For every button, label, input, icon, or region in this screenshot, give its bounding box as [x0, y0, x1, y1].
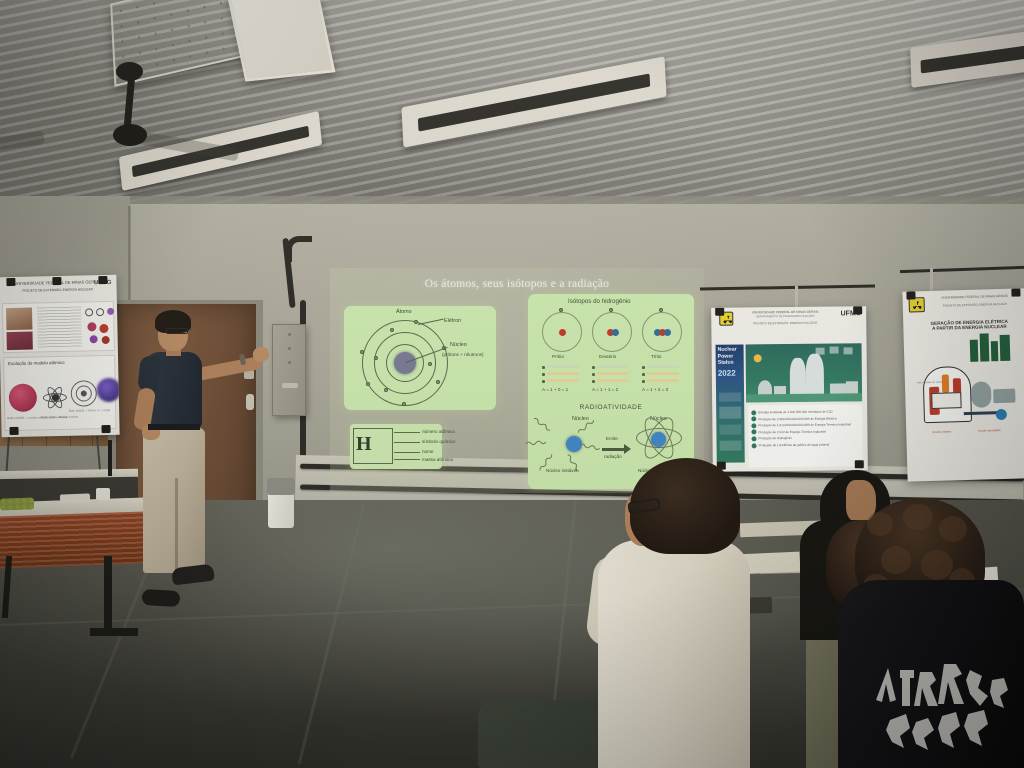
poster-institution: UNIVERSIDADE FEDERAL DE MINAS GERAIS	[929, 293, 1021, 300]
isotope-sum: A = 1 + 2 = 3	[642, 387, 668, 392]
label-radiation: radiação	[604, 454, 622, 459]
diagram-label: circuito primário	[932, 430, 951, 434]
band-tshirt-graphic	[870, 650, 1020, 760]
poster-subtitle: PROJETO DE EXTENSÃO: ENERGIA NUCLEAR	[929, 301, 1021, 308]
label-electron: Elétron	[444, 318, 461, 324]
power-plant-illustration	[746, 343, 863, 402]
table-object-plants[interactable]	[0, 497, 34, 510]
presenter-shoe	[142, 589, 181, 607]
table-leg	[104, 556, 112, 634]
label-nucleus-detail: (prótons + nêutrons)	[442, 352, 484, 357]
presenter-glasses-icon	[166, 328, 188, 334]
label-nucleus: Núcleo	[450, 342, 467, 348]
poster-subtitle: PROJETO DE EXTENSÃO: ENERGIA NUCLEAR	[5, 287, 111, 294]
isotope-name: Deutério	[599, 354, 616, 359]
diagram-label: circuito secundário	[978, 429, 1000, 433]
bullet-item: Energia instalada de 1.200.000.000 tonel…	[751, 409, 859, 415]
poster-department: DEPARTAMENTO DE ENGENHARIA NUCLEAR	[737, 315, 833, 319]
callout-atomic-number: número atômico	[422, 429, 455, 434]
table-foot	[90, 628, 138, 636]
table-object-paper[interactable]	[60, 493, 90, 503]
model-caption: Schrödinger (1926) — Modelo quântico	[95, 404, 115, 420]
poster-stand-pole	[795, 286, 798, 308]
projected-slide: Os átomos, seus isótopos e a radiação Át…	[330, 268, 704, 493]
classroom-scene: Os átomos, seus isótopos e a radiação Át…	[0, 0, 1024, 768]
nuclear-power-status-banner: Nuclear Power Status 2022	[716, 344, 745, 462]
poster-energy-generation[interactable]: UNIVERSIDADE FEDERAL DE MINAS GERAIS PRO…	[902, 288, 1024, 481]
presenter-belt	[148, 424, 200, 430]
poster-section-title: Evolução do modelo atômico	[4, 356, 114, 369]
radioactivity-heading: RADIOATIVIDADE	[528, 404, 694, 411]
electrical-panel-box[interactable]	[272, 324, 306, 416]
isotope-name: Trítio	[651, 354, 661, 359]
label-emits: Emite	[606, 436, 618, 441]
poster-stand-pole	[930, 268, 933, 292]
trash-bin[interactable]	[268, 478, 294, 528]
front-table-front[interactable]	[0, 511, 157, 569]
bullet-list: Energia instalada de 1.200.000.000 tonel…	[748, 404, 863, 467]
presenter-pants	[143, 428, 205, 573]
bullet-item: Produção de Hidrogênio	[751, 435, 859, 441]
isotope-sum: A = 1 + 1 = 2	[592, 387, 618, 392]
callout-name: nome	[422, 449, 434, 454]
element-symbol: H	[356, 433, 372, 456]
isotope-name: Prótio	[552, 354, 564, 359]
slide-title: Os átomos, seus isótopos e a radiação	[330, 278, 704, 290]
presenter-left-sleeve	[137, 355, 161, 393]
door-handle[interactable]	[246, 394, 254, 410]
atom-heading: Átomo	[396, 309, 412, 315]
banner-title: Nuclear Power Status	[716, 344, 744, 368]
ceiling-fan-hub	[113, 124, 147, 146]
slide-atom-panel: Átomo Elétron Núcleo (prótons + nêutrons…	[344, 306, 496, 410]
table-object-cup[interactable]	[96, 488, 110, 500]
label-unstable-nucleus: Núcleo instável	[546, 468, 577, 473]
bullet-item: Produção de 2 km² de Energia Térmica Ind…	[751, 429, 859, 435]
bullet-item: Produção de 1.013.000.000.000 kWh de Ene…	[751, 422, 859, 428]
reactor-diagram: vaso nuclear do reator circuito primário…	[914, 351, 1018, 440]
banner-year: 2022	[716, 368, 744, 377]
callout-symbol: símbolo químico	[422, 439, 455, 444]
isotope-sum: A = 1 + 0 = 1	[542, 387, 568, 392]
stand-post	[108, 440, 112, 476]
bullet-item: Produção de 2.400.000.000.000 kWh de Ene…	[751, 415, 859, 421]
poster-atomic-models[interactable]: UNIVERSIDADE FEDERAL DE MINAS GERAIS PRO…	[0, 275, 120, 437]
presenter-leg-seam	[175, 478, 178, 573]
isotope-heading: Isótopos do hidrogênio	[568, 298, 631, 305]
poster-subtitle: PROJETO DE EXTENSÃO: ENERGIA NUCLEAR	[737, 321, 833, 326]
model-caption: Rutherford — Modelo nuclear	[41, 415, 78, 420]
callout-mass: massa atômica	[422, 457, 453, 462]
slide-element-card: H número atômico símbolo químico nome ma…	[350, 424, 442, 469]
bullet-item: Produção de 1,8 bilhões de galões de águ…	[752, 442, 860, 448]
audience-front-left-body	[598, 540, 750, 768]
poster-nuclear-power-status[interactable]: UNIVERSIDADE FEDERAL DE MINAS GERAIS DEP…	[711, 306, 868, 472]
